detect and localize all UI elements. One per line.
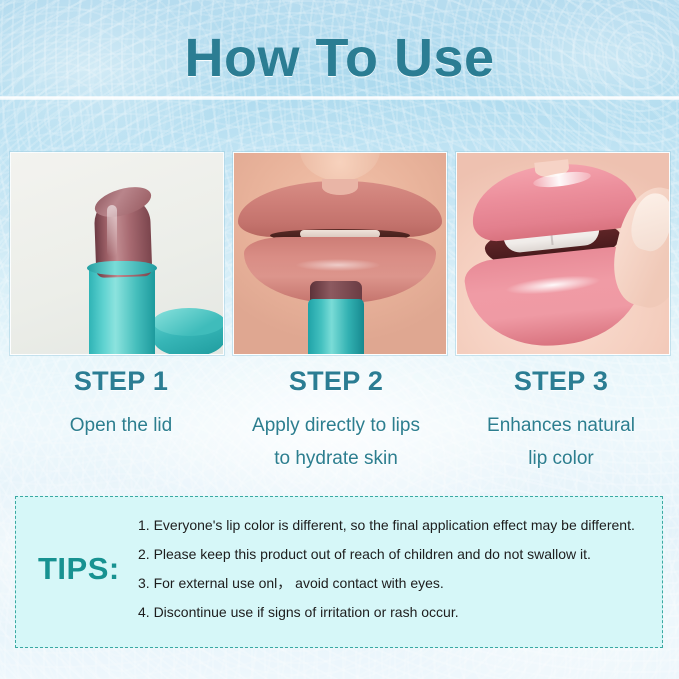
lipstick-tube-rim	[87, 261, 157, 275]
step-1-desc-line-1: Open the lid	[10, 410, 232, 443]
lipstick-cap-top	[153, 308, 224, 336]
step-2-title: STEP 2	[225, 366, 447, 397]
tips-item: 3. For external use onl， avoid contact w…	[138, 569, 650, 598]
tips-label: TIPS:	[38, 551, 138, 587]
page-title: How To Use	[0, 27, 679, 89]
tips-list: 1. Everyone's lip color is different, so…	[138, 511, 650, 627]
step-3-photo	[456, 152, 670, 355]
step-3-description: Enhances natural lip color	[450, 410, 672, 475]
step-2-description: Apply directly to lips to hydrate skin	[225, 410, 447, 475]
how-to-use-page: How To Use	[0, 0, 679, 679]
step-1-title: STEP 1	[10, 366, 232, 397]
tips-box: TIPS: 1. Everyone's lip color is differe…	[15, 496, 663, 648]
step-3-title: STEP 3	[450, 366, 672, 397]
tips-item: 2. Please keep this product out of reach…	[138, 540, 650, 569]
lipstick-tube	[89, 265, 155, 355]
step-2-caption: STEP 2 Apply directly to lips to hydrate…	[225, 366, 447, 475]
step-3-desc-line-1: Enhances natural	[450, 410, 672, 443]
header-divider-line	[0, 96, 679, 100]
step-2-desc-line-2: to hydrate skin	[225, 443, 447, 476]
lipstick-bullet-highlight	[107, 205, 117, 257]
tips-item: 4. Discontinue use if signs of irritatio…	[138, 598, 650, 627]
lip-highlight-step2	[296, 259, 380, 271]
step-captions: STEP 1 Open the lid STEP 2 Apply directl…	[0, 366, 679, 486]
step-1-caption: STEP 1 Open the lid	[10, 366, 232, 443]
step-1-description: Open the lid	[10, 410, 232, 443]
tips-item: 1. Everyone's lip color is different, so…	[138, 511, 650, 540]
step-photo-row	[10, 152, 668, 353]
step-3-caption: STEP 3 Enhances natural lip color	[450, 366, 672, 475]
step-2-photo	[233, 152, 447, 355]
step-3-desc-line-2: lip color	[450, 443, 672, 476]
step-2-desc-line-1: Apply directly to lips	[225, 410, 447, 443]
lipstick-tube-step2	[308, 299, 364, 355]
step-1-photo	[10, 152, 224, 355]
cupids-bow-step2	[322, 179, 358, 195]
